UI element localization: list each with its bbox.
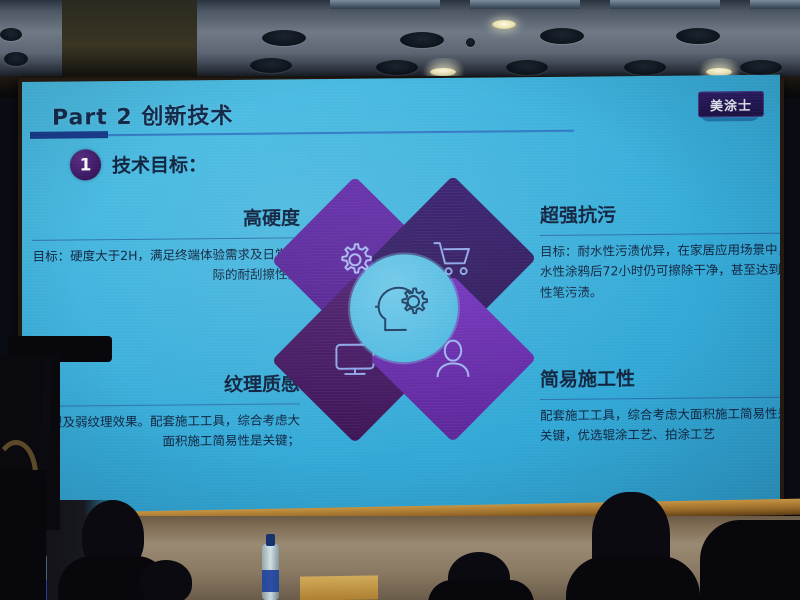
ceiling-light (540, 28, 584, 44)
ceiling-light (376, 60, 418, 75)
feature-block-top-right: 超强抗污 目标：耐水性污渍优异，在家居应用场景中，耐水性涂鸦后72小时仍可擦除干… (540, 198, 780, 302)
page-title: Part 2 创新技术 (52, 94, 612, 131)
ceiling-light (400, 32, 444, 48)
audience-member (700, 520, 800, 600)
feature-block-top-left: 高硬度 目标：硬度大于2H，满足终端体验需求及日常实际的耐刮擦性能 (32, 203, 300, 287)
ceiling-light (624, 60, 666, 75)
photo-of-conference-room: Part 2 创新技术 美涂士 1 技术目标： (0, 0, 800, 600)
ceiling-light (466, 38, 475, 47)
feature-block-bottom-right: 简易施工性 配套施工工具，综合考虑大面积施工简易性是关键，优选辊涂工艺、拍涂工艺 (540, 363, 780, 447)
ceiling-light-on (492, 20, 516, 29)
ceiling-light (0, 28, 22, 41)
presentation-slide: Part 2 创新技术 美涂士 1 技术目标： (22, 75, 780, 518)
feature-title: 简易施工性 (540, 363, 780, 392)
diamond-diagram (290, 195, 518, 455)
feature-title: 高硬度 (32, 203, 300, 233)
ceiling-light (4, 52, 28, 66)
ceiling-light (262, 30, 306, 46)
bottle-cap (266, 534, 275, 546)
feature-body: 目标：耐水性污渍优异，在家居应用场景中，耐水性涂鸦后72小时仍可擦除干净，甚至达… (540, 239, 780, 302)
feature-title: 超强抗污 (540, 198, 780, 228)
table-placard (300, 575, 378, 600)
ceiling-light (740, 60, 782, 75)
center-hub (350, 254, 458, 363)
foreground-object (0, 470, 46, 600)
feature-divider (540, 397, 780, 400)
logo-text: 美涂士 (710, 94, 752, 113)
feature-body: 目标：硬度大于2H，满足终端体验需求及日常实际的耐刮擦性能 (32, 244, 300, 287)
logo-plate: 美涂士 (698, 91, 764, 118)
ceiling-light (506, 60, 548, 75)
step-label: 技术目标： (112, 150, 207, 178)
projection-screen: Part 2 创新技术 美涂士 1 技术目标： (22, 75, 780, 518)
bottle-label (262, 570, 279, 592)
brand-logo: 美涂士 (698, 91, 762, 122)
head-with-gear-icon (372, 277, 436, 340)
slide-title-block: Part 2 创新技术 (52, 94, 612, 131)
feature-divider (32, 237, 300, 241)
ceiling-light (250, 58, 292, 73)
step-number-badge: 1 (70, 149, 101, 180)
step-heading: 1 技术目标： (70, 148, 207, 180)
feature-divider (540, 232, 780, 236)
feature-body: 配套施工工具，综合考虑大面积施工简易性是关键，优选辊涂工艺、拍涂工艺 (540, 404, 780, 447)
water-bottle (262, 530, 279, 600)
ceiling-column (62, 0, 197, 76)
ceiling-light (676, 28, 720, 44)
title-accent-bar (30, 131, 108, 139)
ceiling (0, 0, 800, 86)
ceiling-light-on (430, 68, 456, 76)
